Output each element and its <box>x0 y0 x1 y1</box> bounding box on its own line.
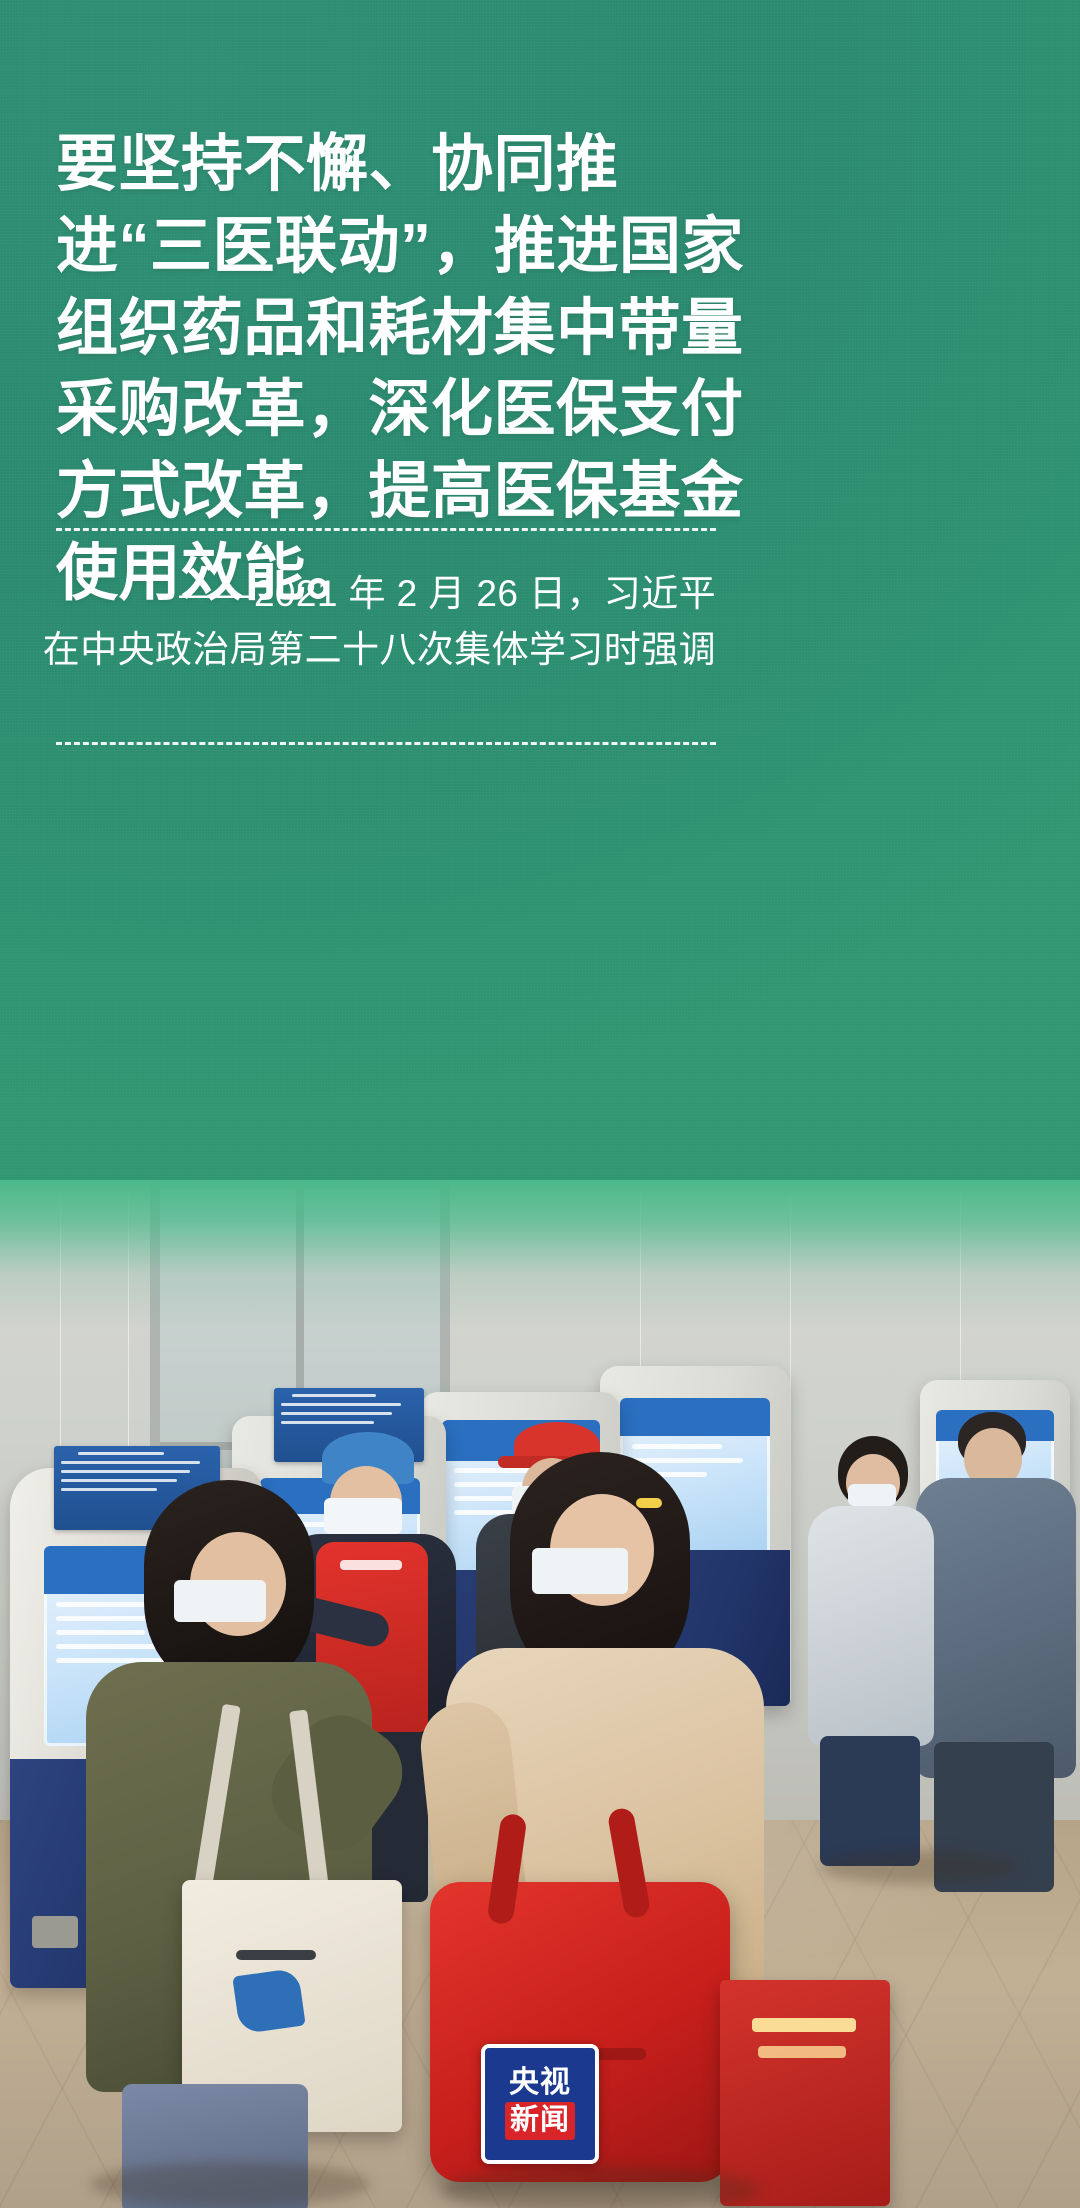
person-foreground-olive <box>86 1480 376 2208</box>
floor-shadow <box>440 2166 760 2208</box>
kiosk-screen-header <box>620 1398 770 1436</box>
face-mask <box>848 1484 896 1506</box>
divider-top <box>56 528 716 531</box>
face-mask <box>532 1548 628 1594</box>
floor-shadow <box>90 2162 370 2206</box>
attribution-line-1: ——2021 年 2 月 26 日，习近平 <box>179 573 716 614</box>
red-shopping-bag <box>720 1980 890 2206</box>
divider-bottom <box>56 742 716 745</box>
tote-bag-text <box>236 1950 316 1960</box>
face-mask <box>174 1580 266 1622</box>
attribution: ——2021 年 2 月 26 日，习近平 在中央政治局第二十八次集体学习时强调 <box>40 566 716 678</box>
tote-bag-print <box>232 1968 305 2035</box>
shopping-bag-text <box>752 2018 856 2032</box>
shopping-bag-text <box>758 2046 846 2058</box>
quote-text: 要坚持不懈、协同推进“三医联动”，推进国家组织药品和耗材集中带量采购改革，深化医… <box>56 124 756 615</box>
glass-mullion <box>790 1180 791 1700</box>
logo-text-bottom: 新闻 <box>505 2102 575 2140</box>
logo-text-top: 央视 <box>509 2068 571 2098</box>
kiosk-slot <box>32 1916 78 1948</box>
attribution-line-2: 在中央政治局第二十八次集体学习时强调 <box>40 622 716 678</box>
person-queue-right-2 <box>800 1436 940 1866</box>
cctv-news-logo[interactable]: 央视 新闻 <box>481 2044 599 2164</box>
legs <box>820 1736 920 1866</box>
poster-root: 要坚持不懈、协同推进“三医联动”，推进国家组织药品和耗材集中带量采购改革，深化医… <box>0 0 1080 2208</box>
floor-shadow <box>820 1850 1020 1884</box>
torso <box>808 1506 934 1746</box>
hair-clip <box>636 1498 662 1508</box>
torso <box>916 1478 1076 1778</box>
